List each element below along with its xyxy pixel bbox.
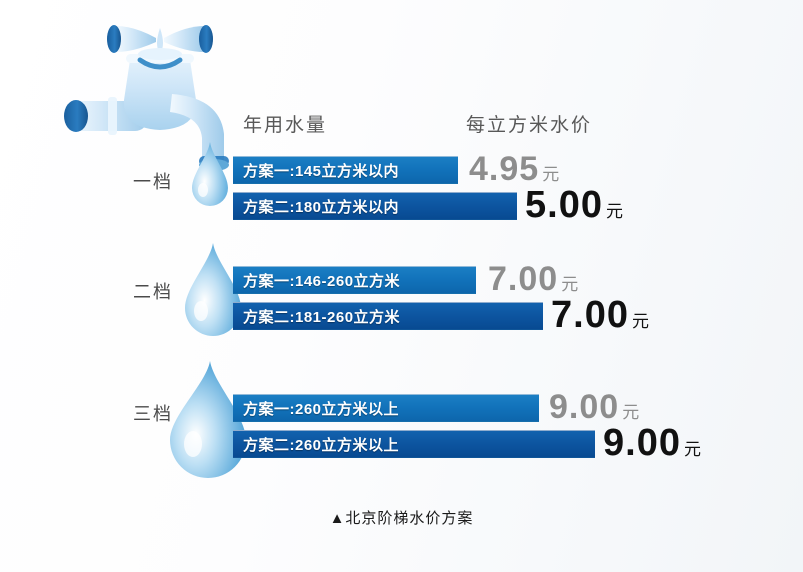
usage-bar-label: 方案二:260立方米以上 — [243, 434, 399, 455]
tier-3-plan-2-row: 方案二:260立方米以上 9.00 元 — [233, 430, 595, 460]
price-value: 7.00 元 — [551, 296, 649, 334]
tier-1-plan-2-row: 方案二:180立方米以内 5.00 元 — [233, 192, 517, 222]
price-unit: 元 — [542, 160, 559, 185]
price-amount: 5.00 — [525, 186, 603, 224]
water-price-infographic: 年用水量 每立方米水价 一档 方案一:145立方米以内 — [0, 0, 803, 572]
usage-bar-label: 方案一:145立方米以内 — [243, 160, 399, 181]
usage-bar: 方案二:181-260立方米 — [233, 302, 543, 330]
tier-label-2: 二档 — [133, 278, 173, 304]
price-unit: 元 — [622, 398, 639, 423]
usage-bar: 方案二:180立方米以内 — [233, 192, 517, 220]
price-value: 4.95 元 — [469, 152, 559, 186]
usage-bar-label: 方案一:260立方米以上 — [243, 398, 399, 419]
price-amount: 9.00 — [603, 424, 681, 462]
usage-bar-label: 方案二:180立方米以内 — [243, 196, 399, 217]
tier-1-plan-1-row: 方案一:145立方米以内 4.95 元 — [233, 156, 458, 186]
price-unit: 元 — [606, 197, 623, 222]
price-amount: 9.00 — [549, 390, 619, 424]
tier-label-1: 一档 — [133, 168, 173, 194]
tier-3-plan-1-row: 方案一:260立方米以上 9.00 元 — [233, 394, 539, 424]
column-header-price: 每立方米水价 — [466, 110, 592, 137]
usage-bar-label: 方案一:146-260立方米 — [243, 270, 400, 291]
price-value: 9.00 元 — [603, 424, 701, 462]
tier-2-plan-2-row: 方案二:181-260立方米 7.00 元 — [233, 302, 543, 332]
tier-group-1: 一档 方案一:145立方米以内 4.95 元 — [0, 148, 803, 226]
usage-bar: 方案一:145立方米以内 — [233, 156, 458, 184]
price-value: 7.00 元 — [488, 262, 578, 296]
price-amount: 4.95 — [469, 152, 539, 186]
price-amount: 7.00 — [488, 262, 558, 296]
price-value: 5.00 元 — [525, 186, 623, 224]
price-unit: 元 — [561, 270, 578, 295]
usage-bar: 方案一:260立方米以上 — [233, 394, 539, 422]
usage-bar-label: 方案二:181-260立方米 — [243, 306, 400, 327]
tier-group-2: 二档 方案一:146-260立方米 7.00 元 — [0, 258, 803, 340]
price-amount: 7.00 — [551, 296, 629, 334]
price-value: 9.00 元 — [549, 390, 639, 424]
column-header-usage: 年用水量 — [243, 110, 327, 137]
usage-bar: 方案一:146-260立方米 — [233, 266, 476, 294]
tier-group-3: 三档 方案一:260立方米以上 9.00 元 — [0, 386, 803, 470]
usage-bar: 方案二:260立方米以上 — [233, 430, 595, 458]
figure-caption: ▲北京阶梯水价方案 — [0, 507, 803, 528]
price-unit: 元 — [684, 435, 701, 460]
tier-2-plan-1-row: 方案一:146-260立方米 7.00 元 — [233, 266, 476, 296]
water-droplet-icon — [186, 140, 234, 214]
price-unit: 元 — [632, 307, 649, 332]
